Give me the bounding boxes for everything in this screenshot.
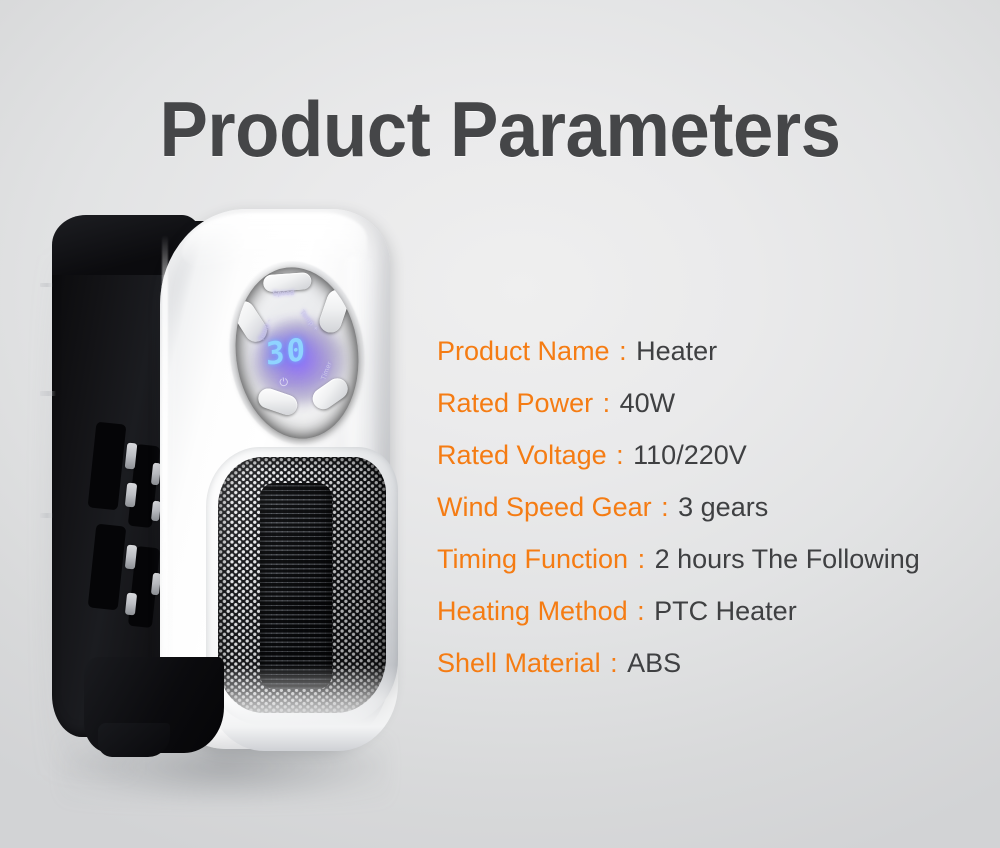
spec-label: Rated Voltage	[437, 440, 607, 470]
spec-label: Shell Material	[437, 648, 601, 678]
shell-top-highlight	[182, 213, 367, 271]
spec-label: Heating Method	[437, 596, 628, 626]
spec-separator: :	[607, 440, 634, 470]
spec-separator: :	[593, 388, 620, 418]
spec-separator: :	[652, 492, 679, 522]
spec-value: 2 hours The Following	[655, 544, 920, 574]
spec-separator: :	[601, 648, 628, 678]
spec-value: Heater	[636, 336, 717, 366]
spec-label: Product Name	[437, 336, 610, 366]
shell-seam	[162, 235, 168, 705]
power-icon: ⏻	[279, 376, 290, 390]
spec-separator: :	[628, 544, 655, 574]
rear-edge-notch	[40, 391, 56, 396]
temp-up-button[interactable]	[317, 287, 352, 336]
spec-value: ABS	[627, 648, 681, 678]
wall-bracket-tab	[98, 723, 170, 757]
spec-value: 40W	[620, 388, 676, 418]
spec-separator: :	[610, 336, 637, 366]
led-temperature-display: 30	[265, 332, 307, 373]
product-image: Speed Temp - Temp + Timer ⏻ 30	[40, 195, 420, 775]
shell-bottom-rim	[208, 665, 398, 751]
spec-label: Timing Function	[437, 544, 628, 574]
spec-separator: :	[628, 596, 655, 626]
spec-row: Heating Method : PTC Heater	[437, 585, 982, 637]
spec-value: 3 gears	[678, 492, 768, 522]
spec-label: Wind Speed Gear	[437, 492, 652, 522]
spec-value: 110/220V	[633, 440, 747, 470]
rear-edge-notch	[40, 283, 53, 287]
spec-row: Shell Material : ABS	[437, 637, 982, 689]
rear-edge-notch	[40, 513, 53, 518]
spec-row: Timing Function : 2 hours The Following	[437, 533, 982, 585]
spec-row: Rated Voltage : 110/220V	[437, 429, 982, 481]
spec-row: Product Name : Heater	[437, 325, 982, 377]
product-parameters-page: Product Parameters	[0, 0, 1000, 848]
ptc-heating-element	[260, 483, 332, 689]
spec-row: Wind Speed Gear : 3 gears	[437, 481, 982, 533]
page-title: Product Parameters	[35, 84, 965, 175]
specification-list: Product Name : HeaterRated Power : 40WRa…	[437, 325, 982, 689]
speed-button-label: Speed	[273, 290, 295, 298]
spec-row: Rated Power : 40W	[437, 377, 982, 429]
spec-value: PTC Heater	[654, 596, 797, 626]
spec-label: Rated Power	[437, 388, 593, 418]
